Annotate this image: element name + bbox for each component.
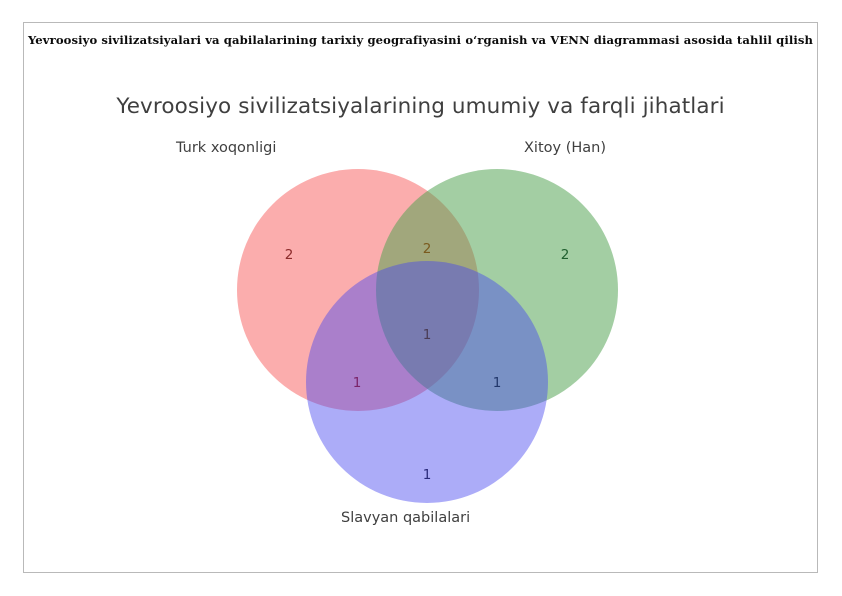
venn-set-label-turk-xoqonligi: Turk xoqonligi bbox=[176, 140, 276, 156]
venn-svg bbox=[24, 62, 817, 572]
venn-chart: Yevroosiyo sivilizatsiyalarining umumiy … bbox=[24, 62, 817, 572]
slide-page: Yevroosiyo sivilizatsiyalari va qabilala… bbox=[0, 0, 842, 596]
document-header-title: Yevroosiyo sivilizatsiyalari va qabilala… bbox=[28, 33, 813, 47]
venn-circles bbox=[237, 169, 618, 503]
venn-canvas: Turk xoqonligi Xitoy (Han) Slavyan qabil… bbox=[24, 62, 817, 572]
venn-circle-slavyan-qabilalari[interactable] bbox=[306, 261, 548, 503]
venn-set-label-xitoy-han: Xitoy (Han) bbox=[524, 140, 606, 156]
venn-set-label-slavyan-qabilalari: Slavyan qabilalari bbox=[341, 510, 470, 526]
document-header: Yevroosiyo sivilizatsiyalari va qabilala… bbox=[24, 23, 817, 57]
